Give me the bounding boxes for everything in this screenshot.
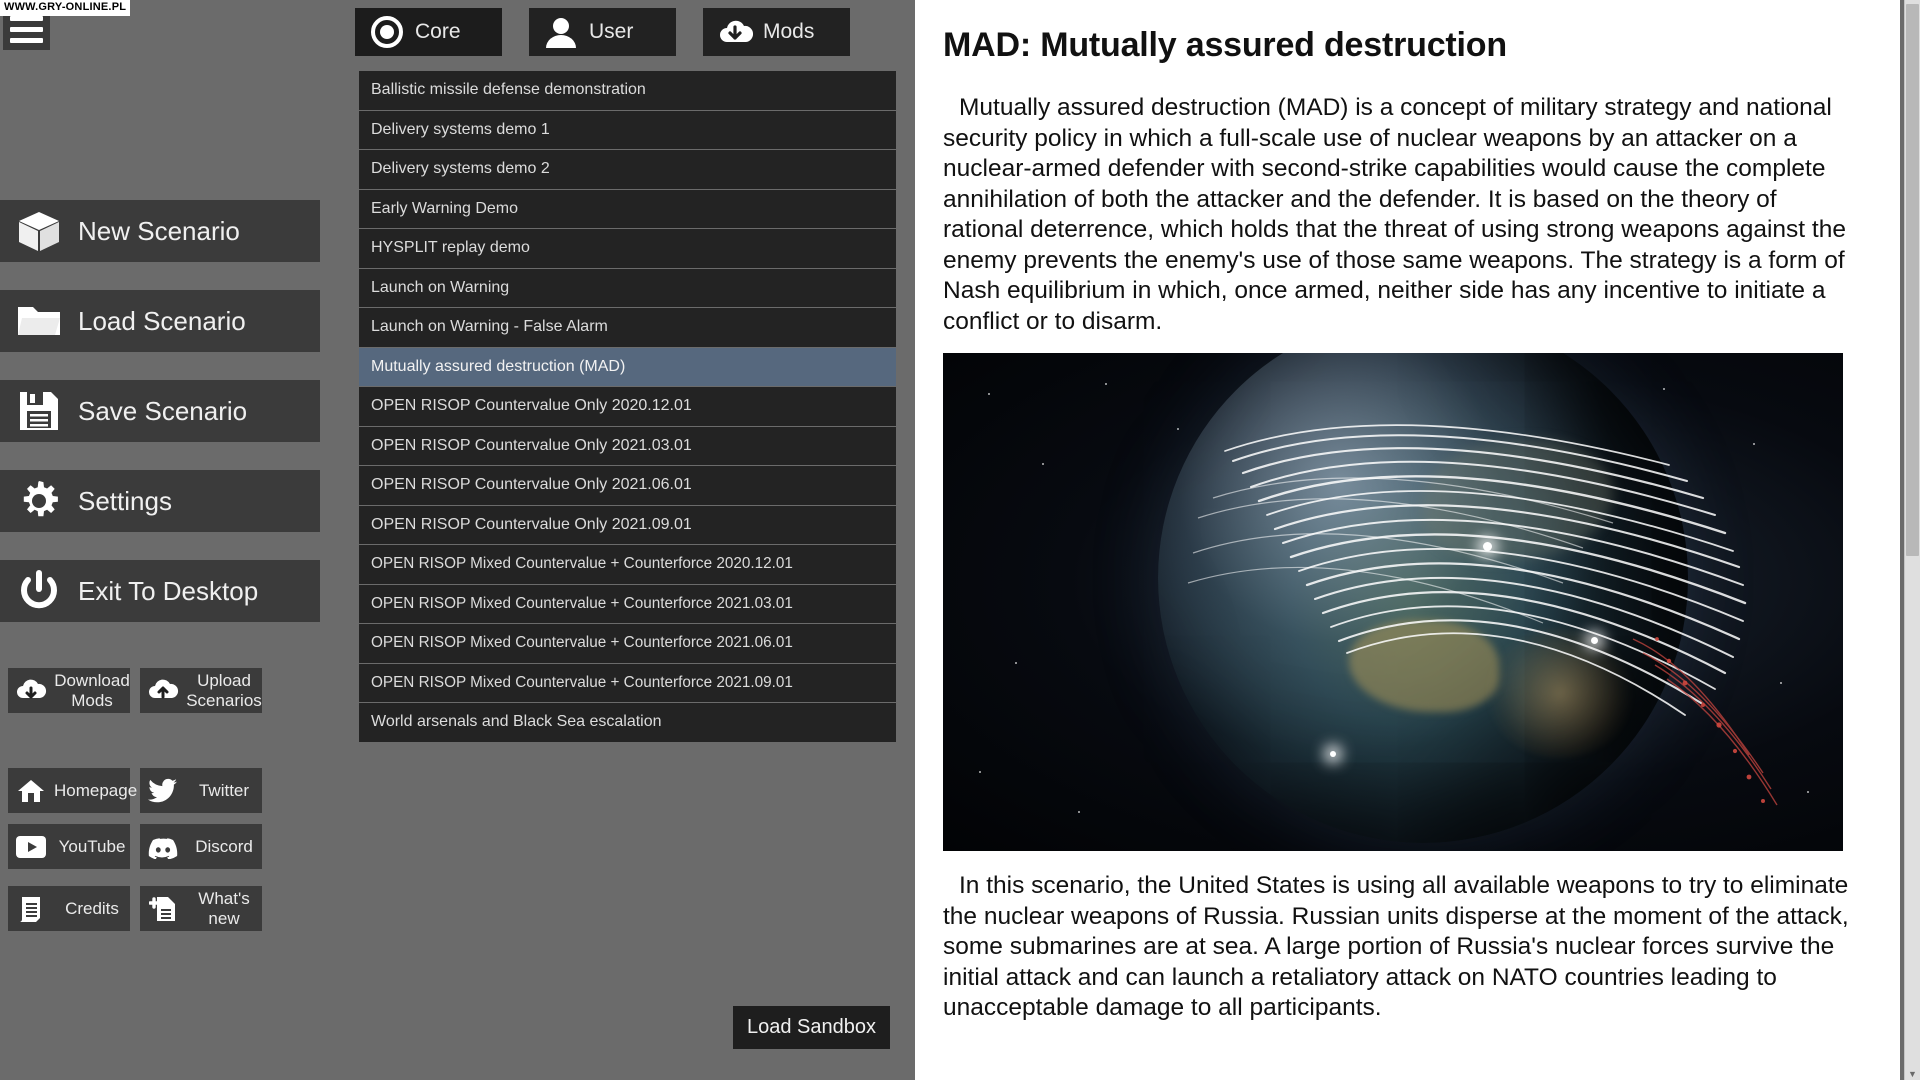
scenario-preview-image [943,353,1843,851]
hamburger-bar [10,38,43,43]
core-circle-icon [367,12,407,52]
cloud-upload-icon [146,674,180,708]
load-sandbox-button[interactable]: Load Sandbox [733,1006,890,1049]
detail-paragraph-2: In this scenario, the United States is u… [943,871,1862,1024]
scenario-detail-panel: MAD: Mutually assured destruction Mutual… [915,0,1900,1080]
scenario-list-item[interactable]: World arsenals and Black Sea escalation [359,703,896,743]
tab-user[interactable]: User [529,8,676,56]
tab-bar: Core User Mods [355,0,900,56]
scenario-browser-column: Core User Mods [355,0,900,1080]
scenario-list-item[interactable]: OPEN RISOP Countervalue Only 2020.12.01 [359,387,896,427]
homepage-button[interactable]: Homepage [8,768,130,813]
button-label: Upload Scenarios [186,671,262,711]
twitter-icon [146,774,180,808]
detail-paragraph-1: Mutually assured destruction (MAD) is a … [943,93,1862,337]
social-button-group: Homepage Twitter [8,768,320,880]
new-document-icon [146,892,180,926]
scenario-list-item[interactable]: Launch on Warning [359,269,896,309]
page-title: MAD: Mutually assured destruction [943,26,1862,65]
scenario-list-item[interactable]: OPEN RISOP Mixed Countervalue + Counterf… [359,664,896,704]
menu-item-label: Exit To Desktop [78,576,258,607]
menu-item-label: New Scenario [78,216,240,247]
tab-mods[interactable]: Mods [703,8,850,56]
mods-download-icon [715,12,755,52]
whats-new-button[interactable]: What's new [140,886,262,931]
button-label: What's new [186,889,262,929]
menu-item-exit-to-desktop[interactable]: Exit To Desktop [0,560,320,622]
tab-label: Mods [763,20,814,44]
site-watermark: WWW.GRY-ONLINE.PL [0,0,130,16]
menu-item-settings[interactable]: Settings [0,470,320,532]
cloud-button-group: Download Mods Upload Scenarios [8,668,320,724]
button-label: Credits [54,899,130,919]
scenario-list-item[interactable]: OPEN RISOP Countervalue Only 2021.03.01 [359,427,896,467]
scenario-list-item[interactable]: OPEN RISOP Mixed Countervalue + Counterf… [359,585,896,625]
scenario-list-item[interactable]: OPEN RISOP Countervalue Only 2021.06.01 [359,466,896,506]
tab-label: Core [415,20,461,44]
folder-icon [10,297,68,345]
twitter-button[interactable]: Twitter [140,768,262,813]
scenario-list-item[interactable]: Early Warning Demo [359,190,896,230]
scrollbar-thumb[interactable] [1906,4,1919,556]
left-sidebar: New Scenario Load Scenario [0,0,320,1080]
menu-item-label: Settings [78,486,172,517]
button-label: YouTube [54,837,130,857]
menu-item-label: Save Scenario [78,396,247,427]
menu-item-label: Load Scenario [78,306,246,337]
download-mods-button[interactable]: Download Mods [8,668,130,713]
power-icon [10,567,68,615]
home-icon [14,774,48,808]
menu-item-save-scenario[interactable]: Save Scenario [0,380,320,442]
scroll-down-arrow-icon[interactable]: ▼ [1906,1067,1919,1080]
scenario-list-item[interactable]: OPEN RISOP Countervalue Only 2021.09.01 [359,506,896,546]
app-screen: New Scenario Load Scenario [0,0,1920,1080]
tab-label: User [589,20,633,44]
gear-icon [10,477,68,525]
hamburger-bar [10,16,43,21]
scenario-list-item[interactable]: Launch on Warning - False Alarm [359,308,896,348]
scenario-list-item[interactable]: Mutually assured destruction (MAD) [359,348,896,388]
page-scrollbar[interactable]: ▲ ▼ [1904,0,1920,1080]
scenario-list-item[interactable]: OPEN RISOP Mixed Countervalue + Counterf… [359,624,896,664]
button-label: Download Mods [54,671,130,711]
youtube-button[interactable]: YouTube [8,824,130,869]
sandbox-button-area: Load Sandbox [355,1006,900,1049]
scenario-list-item[interactable]: Delivery systems demo 2 [359,150,896,190]
credits-button[interactable]: Credits [8,886,130,931]
floppy-disk-icon [10,387,68,435]
scroll-icon [14,892,48,926]
button-label: Homepage [54,781,137,801]
misc-button-group: Credits What's new [8,886,320,942]
user-icon [541,12,581,52]
cloud-download-icon [14,674,48,708]
menu-item-load-scenario[interactable]: Load Scenario [0,290,320,352]
tab-core[interactable]: Core [355,8,502,56]
cube-icon [10,207,68,255]
scenario-list[interactable]: Ballistic missile defense demonstrationD… [355,67,900,997]
scenario-list-item[interactable]: HYSPLIT replay demo [359,229,896,269]
button-label: Discord [186,837,262,857]
menu-item-new-scenario[interactable]: New Scenario [0,200,320,262]
button-label: Twitter [186,781,262,801]
detonation-flash [1591,637,1598,644]
main-menu: New Scenario Load Scenario [0,200,320,650]
discord-icon [146,830,180,864]
scenario-list-item[interactable]: Delivery systems demo 1 [359,111,896,151]
discord-button[interactable]: Discord [140,824,262,869]
scenario-list-item[interactable]: Ballistic missile defense demonstration [359,71,896,111]
youtube-icon [14,830,48,864]
missile-trajectory-trails [943,353,1843,851]
upload-scenarios-button[interactable]: Upload Scenarios [140,668,262,713]
hamburger-bar [10,27,43,32]
scenario-list-item[interactable]: OPEN RISOP Mixed Countervalue + Counterf… [359,545,896,585]
